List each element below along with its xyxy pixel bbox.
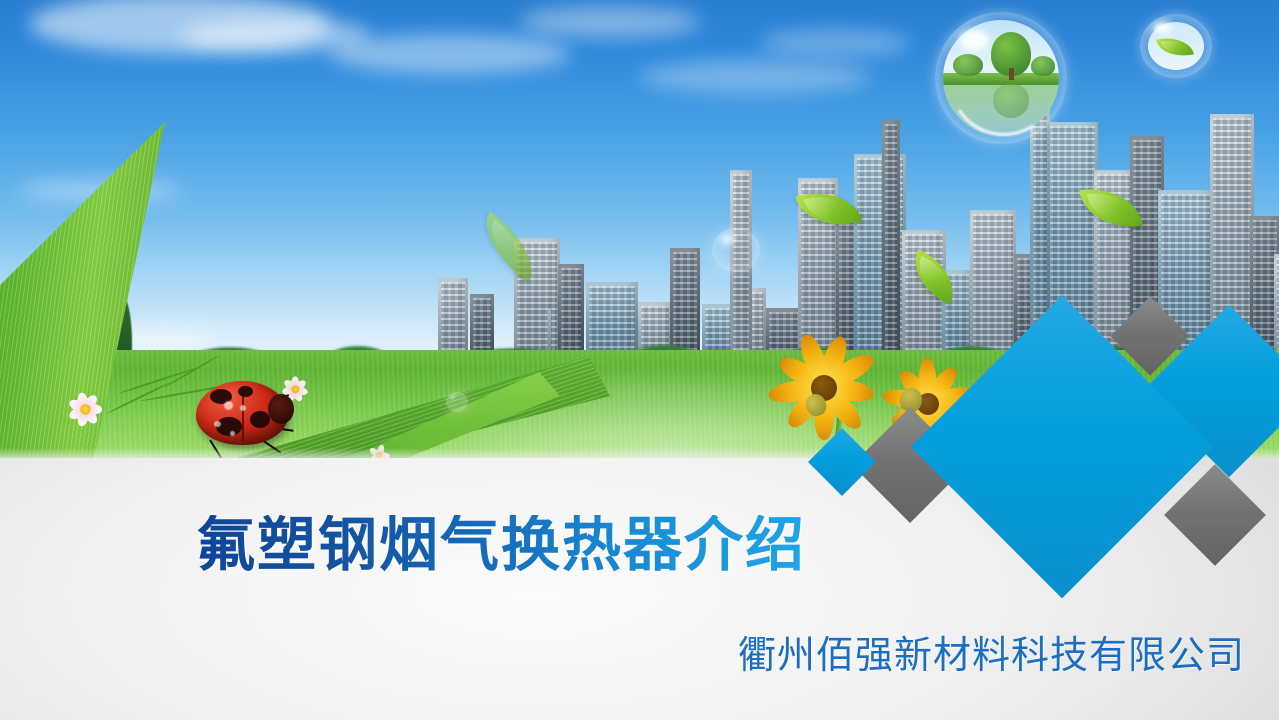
flower-center	[291, 385, 299, 393]
flower-center	[80, 404, 90, 414]
bubble-highlight	[722, 235, 736, 243]
soap-bubble-leaf	[1140, 14, 1212, 78]
soap-bubble-small	[712, 228, 760, 272]
water-droplet	[230, 431, 235, 436]
ladybug-spot	[238, 386, 253, 397]
water-droplet	[214, 421, 221, 427]
water-droplet	[224, 401, 233, 410]
bubble-leaf	[1156, 33, 1194, 62]
company-name: 衢州佰强新材料科技有限公司	[738, 636, 1245, 674]
soap-bubble-tree-scene	[935, 12, 1067, 144]
bubble-highlight	[1154, 23, 1172, 33]
presentation-slide: 氟塑钢烟气换热器介绍 衢州佰强新材料科技有限公司	[0, 0, 1279, 720]
ladybug-spot	[216, 417, 242, 436]
content-panel	[0, 458, 1279, 720]
yellow-daisy	[876, 356, 980, 452]
yellow-daisy	[760, 332, 888, 444]
ladybug	[196, 381, 288, 445]
background-photo	[0, 0, 1279, 462]
cosmos-flower	[63, 387, 107, 431]
ladybug-spot	[250, 411, 270, 428]
ladybug-head	[268, 394, 294, 424]
cloud-icon	[520, 6, 700, 38]
soap-bubble-tiny	[446, 392, 468, 412]
page-title: 氟塑钢烟气换热器介绍	[196, 515, 806, 574]
water-droplet	[240, 405, 246, 411]
